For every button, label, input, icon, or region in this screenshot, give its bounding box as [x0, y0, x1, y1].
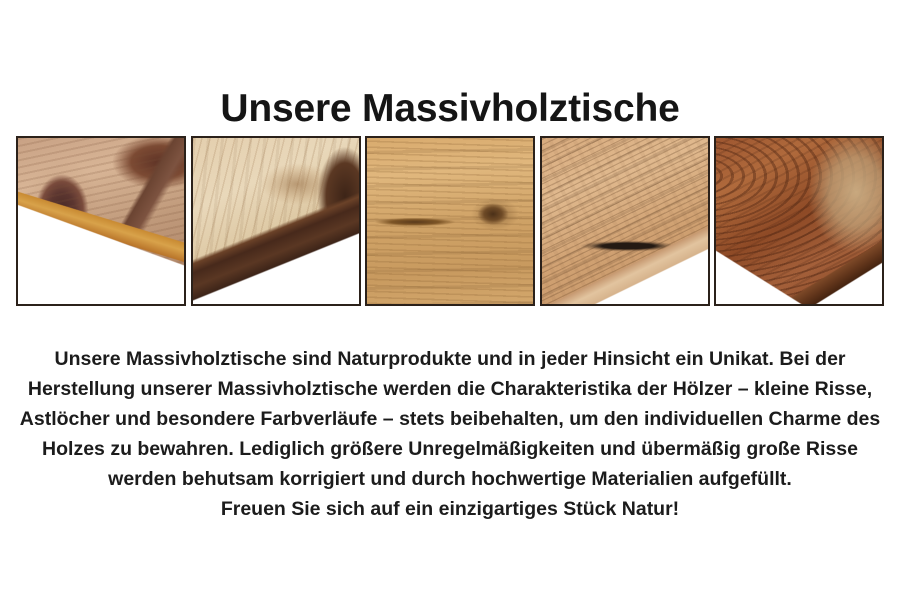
gallery-item-4	[540, 136, 710, 306]
description-closing-line: Freuen Sie sich auf ein einzigartiges St…	[0, 494, 900, 524]
gallery-item-5	[714, 136, 884, 306]
gallery-item-1	[16, 136, 186, 306]
description-line: Astlöcher und besondere Farbverläufe – s…	[0, 404, 900, 434]
description-line: Herstellung unserer Massivholztische wer…	[0, 374, 900, 404]
wood-slab-burl-photo	[18, 138, 184, 304]
page-title: Unsere Massivholztische	[0, 88, 900, 131]
wood-image-gallery	[16, 136, 884, 306]
gallery-item-2	[191, 136, 361, 306]
product-info-banner: Unsere Massivholztische Unsere Massivhol…	[0, 0, 900, 600]
wood-rosewood-corner-photo	[716, 138, 882, 304]
description-line: werden behutsam korrigiert und durch hoc…	[0, 464, 900, 494]
gallery-item-3	[365, 136, 535, 306]
description-line: Holzes zu bewahren. Lediglich größere Un…	[0, 434, 900, 464]
wood-grain-knot-photo	[367, 138, 533, 304]
description-line: Unsere Massivholztische sind Naturproduk…	[0, 344, 900, 374]
wood-plank-crack-photo	[542, 138, 708, 304]
description-text: Unsere Massivholztische sind Naturproduk…	[0, 344, 900, 524]
wood-live-edge-photo	[193, 138, 359, 304]
